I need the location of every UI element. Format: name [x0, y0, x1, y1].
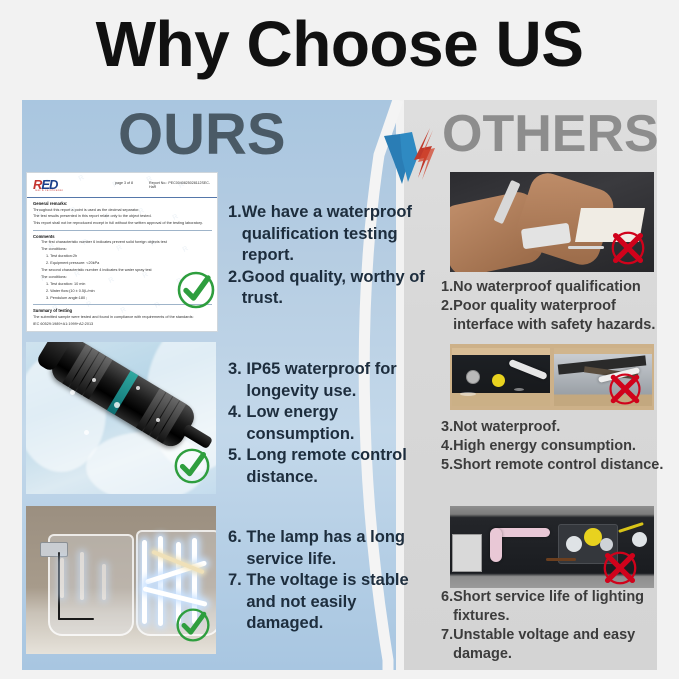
list-item-number: 5.: [228, 445, 246, 488]
list-item: 2. Poor quality waterproof interface wit…: [441, 297, 676, 335]
list-item-number: 7.: [441, 626, 453, 664]
list-item: 7. The voltage is stable and not easily …: [228, 570, 428, 635]
list-item: 1. We have a waterproof qualification te…: [228, 202, 428, 267]
list-item: 4. High energy consumption.: [441, 437, 676, 456]
report-general-line: The test results presented in this repor…: [33, 214, 212, 220]
list-item-number: 6.: [228, 527, 246, 570]
others-list-group-1: 1. No waterproof qualification 2. Poor q…: [441, 278, 676, 335]
list-item-number: 1.: [441, 278, 453, 297]
list-item-text: Poor quality waterproof interface with s…: [453, 297, 676, 335]
cross-mark-icon: [600, 548, 640, 588]
list-item: 1. No waterproof qualification: [441, 278, 676, 297]
list-item: 5. Short remote control distance.: [441, 456, 676, 475]
list-item-number: 1.: [228, 202, 242, 267]
list-item: 6. Short service life of lighting fixtur…: [441, 588, 676, 626]
check-mark-icon: [174, 606, 212, 644]
list-item-text: High energy consumption.: [453, 437, 676, 456]
ours-list-group-2: 3. IP65 waterproof for longevity use. 4.…: [228, 359, 428, 488]
photo-test-report: RR RR R RR RR R RR RR R RR RR R RR RR RE…: [26, 172, 218, 332]
report-summary-line: IEC 60529:1989+A1:1999+A2:2013: [33, 322, 212, 328]
photo-fixture-corroded: [452, 348, 550, 406]
report-header: RED test & certification page 3 of 8 Rep…: [27, 173, 217, 198]
list-item-number: 7.: [228, 570, 246, 635]
check-mark-icon: [175, 269, 217, 311]
list-item-text: IP65 waterproof for longevity use.: [246, 359, 428, 402]
list-item-text: Short service life of lighting fixtures.: [453, 588, 676, 626]
report-condition: 1. Test duration:2h: [46, 254, 212, 260]
list-item: 2. Good quality, worthy of trust.: [228, 267, 428, 310]
list-item-text: Long remote control distance.: [246, 445, 428, 488]
others-list-group-3: 6. Short service life of lighting fixtur…: [441, 588, 676, 664]
report-condition-label: The conditions:: [41, 247, 212, 253]
report-condition: 2. Equipment pressure: <20kPa: [46, 261, 212, 267]
list-item-text: Short remote control distance.: [453, 456, 676, 475]
list-item-number: 2.: [228, 267, 242, 310]
list-item-number: 4.: [441, 437, 453, 456]
list-item: 6. The lamp has a long service life.: [228, 527, 428, 570]
ours-title: OURS: [118, 106, 286, 164]
list-item: 5. Long remote control distance.: [228, 445, 428, 488]
photo-damaged-fixtures-pair: [450, 344, 654, 410]
list-item-number: 3.: [228, 359, 246, 402]
list-item-text: No waterproof qualification: [453, 278, 676, 297]
others-list-group-2: 3. Not waterproof. 4. High energy consum…: [441, 418, 676, 475]
list-item-text: We have a waterproof qualification testi…: [242, 202, 428, 267]
list-item: 3. Not waterproof.: [441, 418, 676, 437]
page-title: Why Choose US: [0, 8, 679, 80]
connector-seal-ring: [107, 371, 138, 415]
report-heading-comments: Comments: [33, 234, 212, 239]
vs-badge-icon: [378, 122, 446, 188]
photo-waterproof-connector: [26, 342, 216, 494]
check-mark-icon: [172, 446, 212, 486]
report-general-line: Throughout this report a point is used a…: [33, 208, 212, 214]
photo-lamp-housing-wiring: [450, 506, 654, 588]
photo-manual-wiring: [450, 172, 654, 272]
lamp-driver: [40, 542, 68, 557]
list-item-number: 5.: [441, 456, 453, 475]
list-item-number: 4.: [228, 402, 246, 445]
infographic-page: Why Choose US RR RR R RR RR R RR RR R RR…: [0, 0, 679, 679]
report-summary-line: The submitted sample were tested and fou…: [33, 315, 212, 321]
list-item-text: The lamp has a long service life.: [246, 527, 428, 570]
list-item-text: Low energy consumption.: [246, 402, 428, 445]
photo-submerged-lamp-test: [26, 506, 216, 654]
report-general-line: This report shall not be reproduced exce…: [33, 221, 212, 227]
others-title: OTHERS: [442, 108, 659, 160]
list-item: 7. Unstable voltage and easy damage.: [441, 626, 676, 664]
report-heading-general: General remarks:: [33, 201, 212, 206]
report-divider: [33, 230, 212, 231]
list-item: 4. Low energy consumption.: [228, 402, 428, 445]
ours-list-group-3: 6. The lamp has a long service life. 7. …: [228, 527, 428, 635]
report-number: Report No.: PEC0040825028112SEC-HaR: [149, 181, 217, 189]
list-item-number: 3.: [441, 418, 453, 437]
report-logo-subtitle: test & certification: [35, 189, 63, 192]
list-item-text: Not waterproof.: [453, 418, 676, 437]
list-item-text: Good quality, worthy of trust.: [242, 267, 428, 310]
ours-list-group-1: 1. We have a waterproof qualification te…: [228, 202, 428, 310]
cross-mark-icon: [606, 370, 644, 408]
report-comment: The first characteristic number 6 indica…: [41, 240, 212, 246]
list-item-text: The voltage is stable and not easily dam…: [246, 570, 428, 635]
cross-mark-icon: [608, 228, 648, 268]
list-item-text: Unstable voltage and easy damage.: [453, 626, 676, 664]
report-page-label: page 3 of 8: [115, 181, 133, 185]
list-item: 3. IP65 waterproof for longevity use.: [228, 359, 428, 402]
list-item-number: 2.: [441, 297, 453, 335]
list-item-number: 6.: [441, 588, 453, 626]
